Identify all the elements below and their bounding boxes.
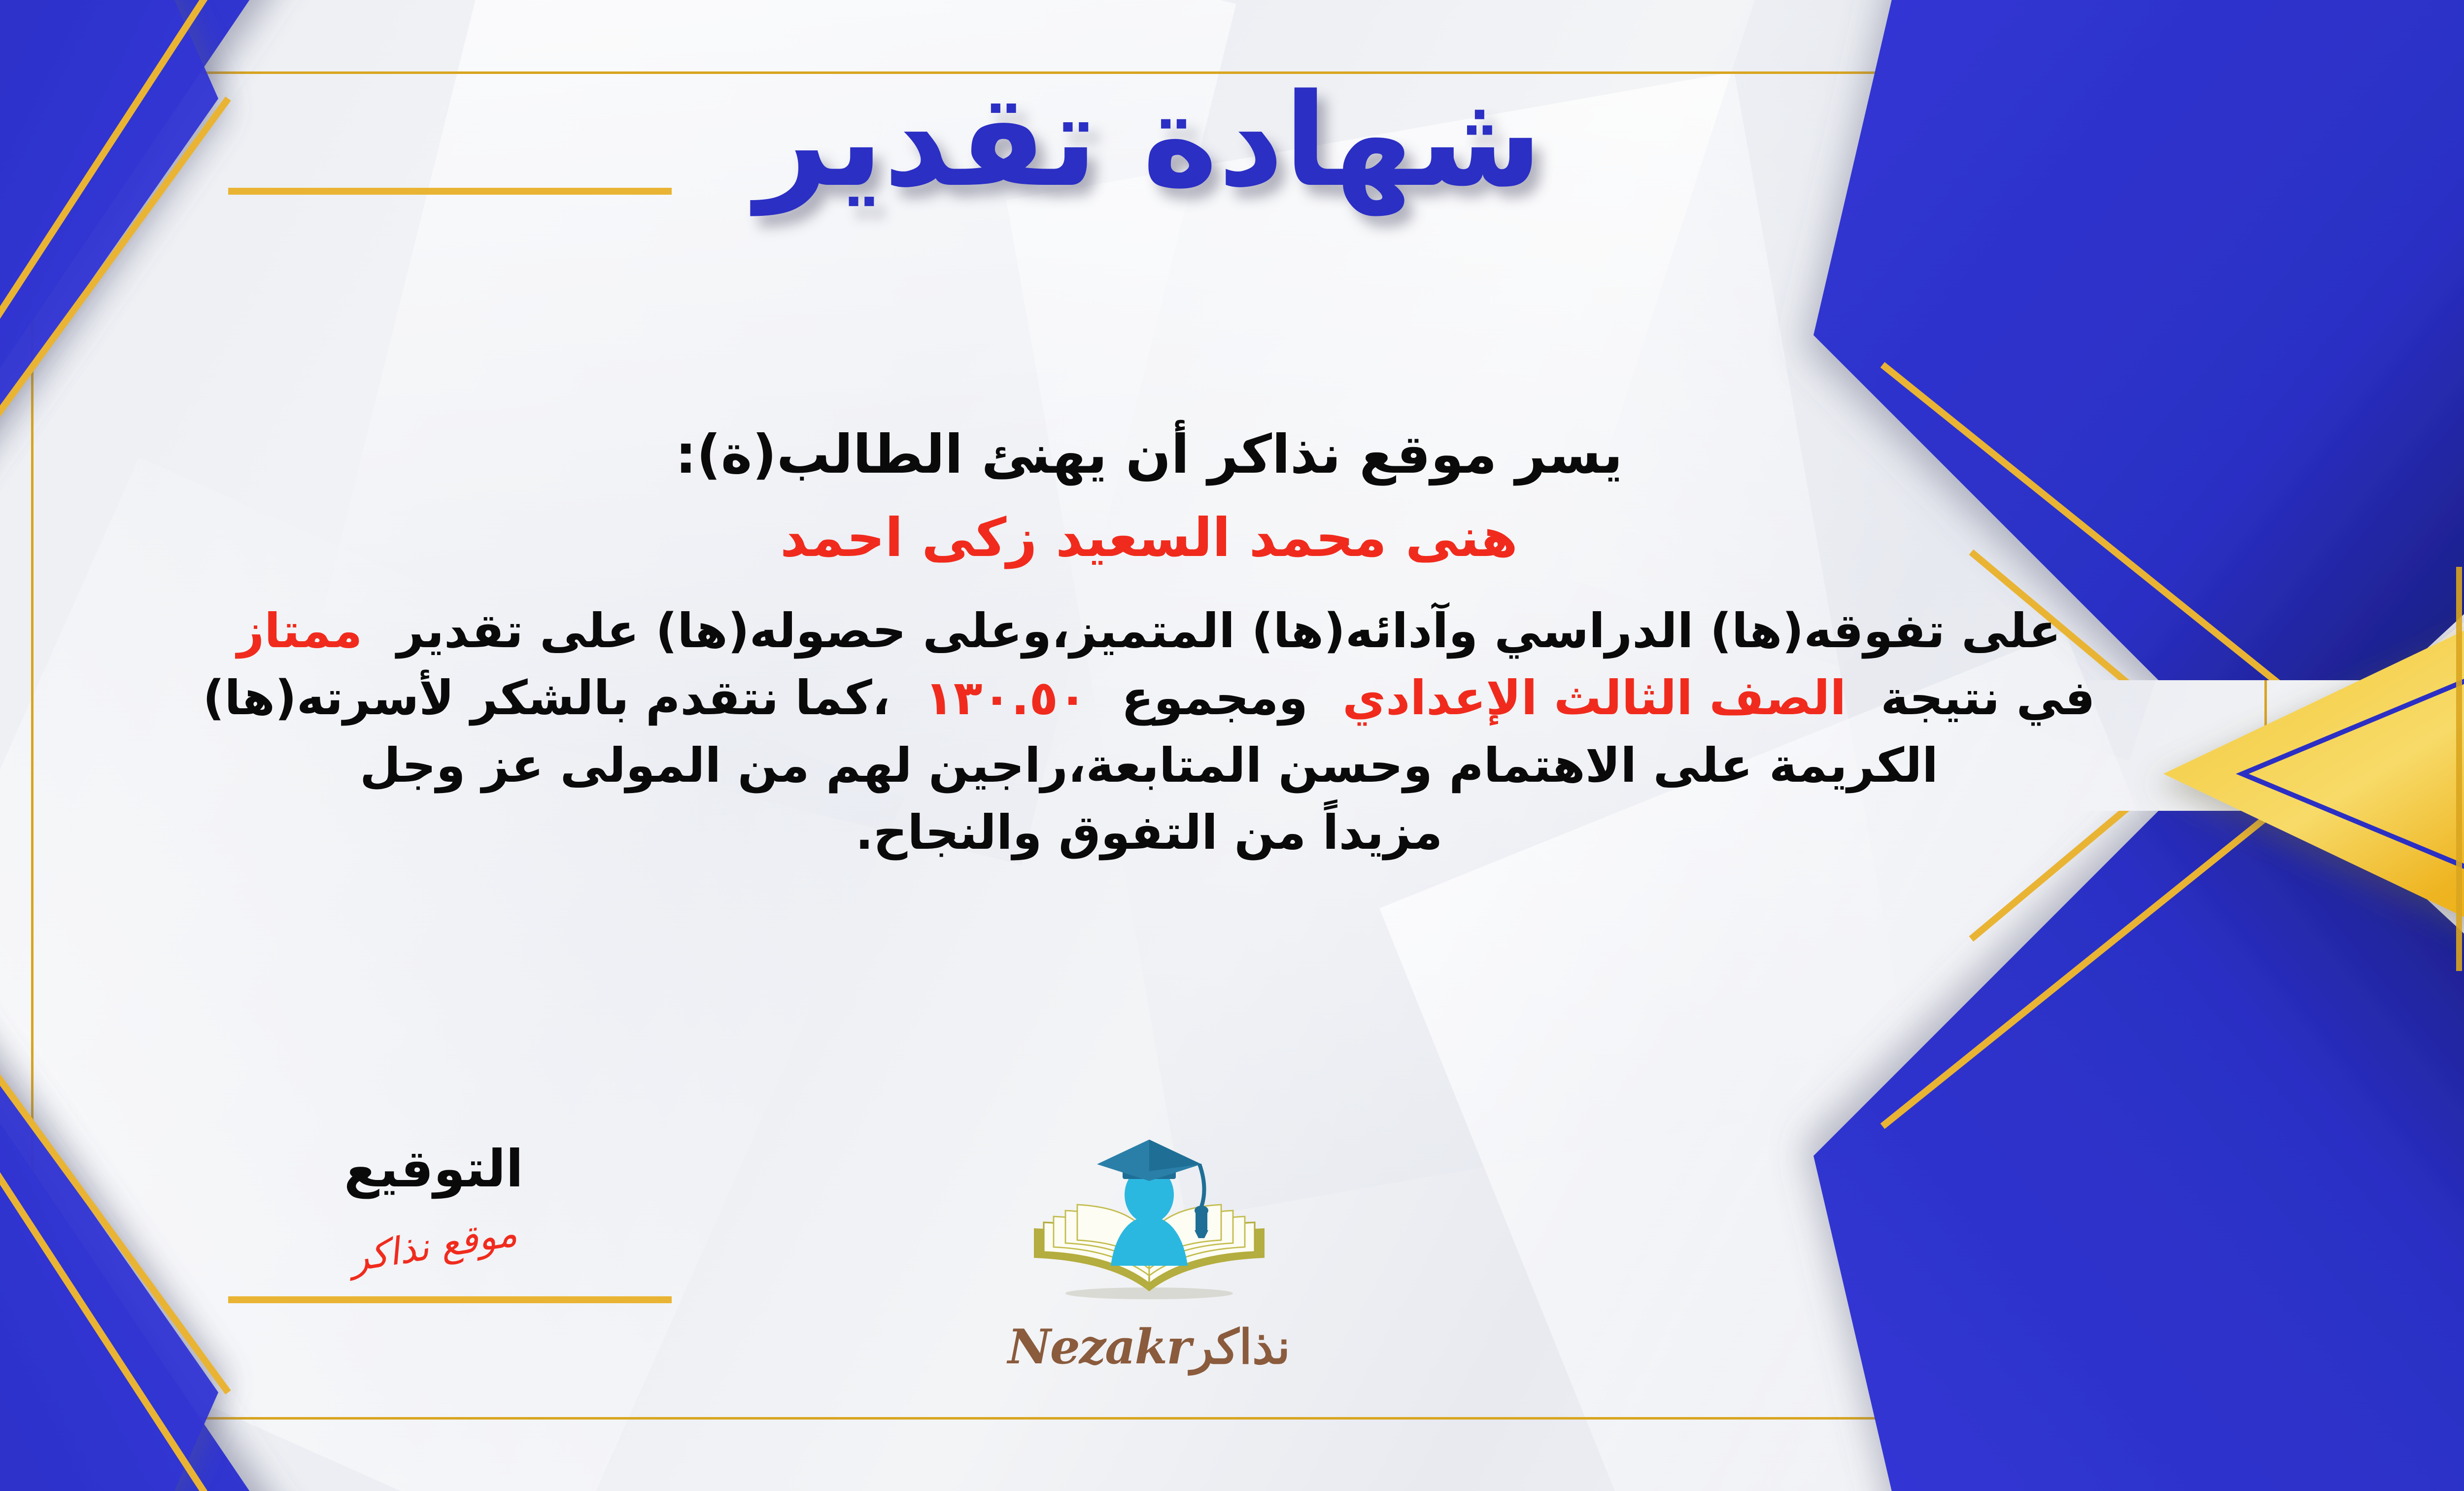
brand-name-arabic: نذاكر [1191,1319,1290,1375]
citation-line-2: في نتيجةالصف الثالث الإعداديومجموع١٣٠.٥٠… [0,664,2301,731]
citation-line-3: الكريمة على الاهتمام وحسن المتابعة،راجين… [0,732,2301,799]
certificate-body: يسر موقع نذاكر أن يهنئ الطالب(ة): هنى مح… [0,424,2301,866]
citation-line-2-tail: ،كما نتقدم بالشكر لأسرته(ها) [203,670,890,726]
brand-name-latin: Nezakr [1008,1319,1191,1375]
citation-line-1: على تفوقه(ها) الدراسي وآدائه(ها) المتميز… [0,597,2301,664]
citation-paragraph: على تفوقه(ها) الدراسي وآدائه(ها) المتميز… [0,597,2301,866]
intro-line: يسر موقع نذاكر أن يهنئ الطالب(ة): [0,424,2301,485]
stage-value: الصف الثالث الإعدادي [1342,670,1846,726]
brand-logo-text: نذاكرNezakr [1008,1319,1290,1375]
label-total: ومجموع [1122,670,1308,726]
page-title: شهادة تقدير [0,74,2464,208]
student-name: هنى محمد السعيد زكى احمد [0,507,2301,569]
graduate-book-logo-icon [1016,1134,1282,1331]
citation-line-1-text: على تفوقه(ها) الدراسي وآدائه(ها) المتميز… [397,603,2061,659]
certificate-canvas: شهادة تقدير يسر موقع نذاكر أن يهنئ الطال… [0,0,2464,1491]
citation-line-4: مزيداً من التفوق والنجاح. [0,799,2301,866]
label-in-result: في نتيجة [1881,670,2095,726]
brand-logo-block: نذاكرNezakr [0,1134,2464,1375]
total-score-value: ١٣٠.٥٠ [924,670,1087,726]
certificate-title-block: شهادة تقدير [0,74,2464,208]
grade-value: ممتاز [237,603,362,659]
